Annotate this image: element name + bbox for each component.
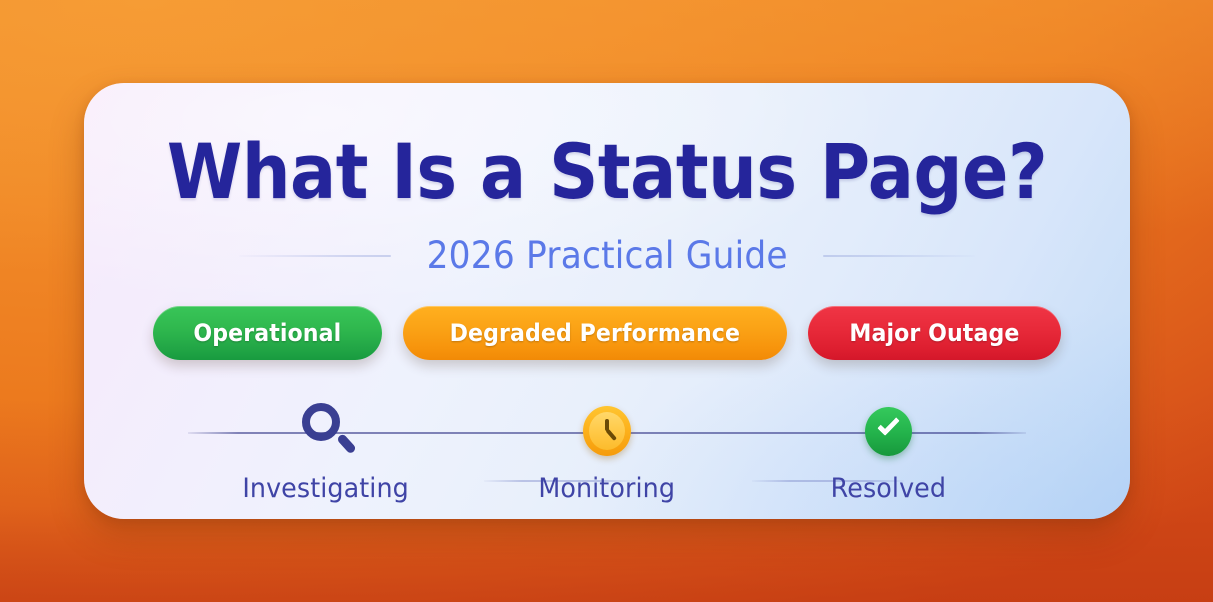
timeline-step-label: Investigating: [243, 473, 410, 505]
timeline-step-label: Resolved: [830, 473, 945, 505]
status-badge-degraded-performance[interactable]: Degraded Performance: [403, 306, 787, 360]
page-title: What Is a Status Page?: [136, 129, 1077, 215]
status-badge-operational[interactable]: Operational: [153, 306, 382, 360]
subtitle-rule-left: [239, 255, 391, 257]
status-badge-label: Degraded Performance: [450, 319, 740, 347]
clock-face: [589, 412, 625, 450]
clock-icon: [579, 403, 635, 459]
check-mark: [877, 413, 900, 436]
incident-timeline: Investigating Monitoring: [84, 383, 1130, 503]
timeline-step-resolved[interactable]: Resolved: [748, 383, 1029, 505]
status-badge-row: Operational Degraded Performance Major O…: [84, 306, 1130, 360]
timeline-step-monitoring[interactable]: Monitoring: [467, 383, 748, 505]
magnifier-lens: [302, 403, 340, 441]
subtitle-row: 2026 Practical Guide: [84, 233, 1130, 279]
status-page-card: What Is a Status Page? 2026 Practical Gu…: [84, 83, 1130, 519]
subtitle-rule-right: [823, 255, 975, 257]
status-badge-label: Operational: [194, 319, 342, 347]
check-circle-icon: [860, 403, 916, 459]
infographic-canvas: What Is a Status Page? 2026 Practical Gu…: [0, 0, 1213, 602]
clock-hand-minute: [605, 429, 616, 441]
timeline-step-label: Monitoring: [539, 473, 676, 505]
card-content: What Is a Status Page? 2026 Practical Gu…: [84, 83, 1130, 519]
status-badge-major-outage[interactable]: Major Outage: [808, 306, 1061, 360]
magnifying-glass-icon: [298, 403, 354, 459]
timeline-step-investigating[interactable]: Investigating: [186, 383, 467, 505]
check-circle-background: [865, 407, 912, 456]
page-subtitle: 2026 Practical Guide: [426, 234, 787, 278]
timeline-steps: Investigating Monitoring: [84, 383, 1130, 503]
status-badge-label: Major Outage: [849, 319, 1019, 347]
magnifier-handle: [336, 433, 357, 455]
clock-bezel: [583, 406, 631, 456]
